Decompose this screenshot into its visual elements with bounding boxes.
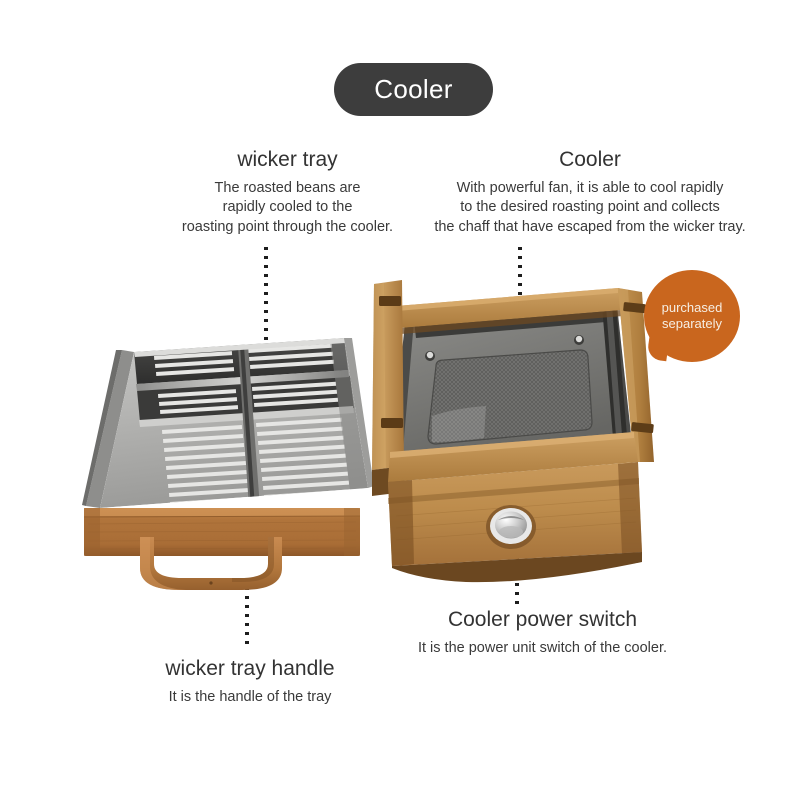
cooler-front-left-corner-block — [388, 480, 414, 566]
callout-cooler: Cooler With powerful fan, it is able to … — [410, 148, 770, 237]
cooler-front-right-corner-block — [618, 462, 642, 554]
wicker-tray-deck — [100, 338, 368, 508]
wicker-tray-panel-left-end — [84, 508, 100, 556]
callout-cooler-line-3: the chaff that have escaped from the wic… — [410, 218, 770, 238]
callout-wicker-tray-handle: wicker tray handle It is the handle of t… — [105, 657, 395, 707]
purchased-separately-bubble: purchased separately — [644, 270, 744, 366]
callout-cooler-power-switch: Cooler power switch It is the power unit… — [375, 608, 710, 658]
wicker-tray-handle-screw — [209, 581, 212, 584]
callout-cooler-power-switch-body: It is the power unit switch of the coole… — [375, 639, 710, 659]
product-image-cooler — [366, 266, 656, 586]
cooler-left-post-notch-top — [379, 296, 401, 306]
callout-wicker-tray-handle-line-1: It is the handle of the tray — [105, 688, 395, 708]
callout-wicker-tray-body: The roasted beans are rapidly cooled to … — [150, 179, 425, 238]
callout-wicker-tray-handle-heading: wicker tray handle — [105, 657, 395, 682]
cooler-illustration — [366, 266, 656, 586]
wicker-tray-wood-front-bevel — [84, 508, 360, 516]
callout-wicker-tray-heading: wicker tray — [150, 148, 425, 173]
callout-cooler-line-1: With powerful fan, it is able to cool ra… — [410, 179, 770, 199]
infographic-canvas: Cooler wicker tray The roasted beans are… — [0, 0, 800, 800]
purchased-separately-bubble-circle — [644, 270, 740, 362]
page-title-badge: Cooler — [334, 63, 493, 116]
wicker-tray-panel-right-end — [344, 508, 360, 556]
callout-wicker-tray-handle-body: It is the handle of the tray — [105, 688, 395, 708]
callout-wicker-tray-line-1: The roasted beans are — [150, 179, 425, 199]
page-title-label: Cooler — [374, 74, 452, 105]
callout-cooler-power-switch-line-1: It is the power unit switch of the coole… — [375, 639, 710, 659]
cooler-power-switch[interactable] — [486, 505, 536, 549]
callout-wicker-tray: wicker tray The roasted beans are rapidl… — [150, 148, 425, 237]
callout-cooler-body: With powerful fan, it is able to cool ra… — [410, 179, 770, 238]
product-image-wicker-tray — [82, 332, 382, 594]
cooler-power-switch-lower-face — [499, 526, 523, 538]
callout-cooler-power-switch-heading: Cooler power switch — [375, 608, 710, 633]
callout-cooler-line-2: to the desired roasting point and collec… — [410, 198, 770, 218]
callout-wicker-tray-line-3: roasting point through the cooler. — [150, 218, 425, 238]
cooler-left-post-notch-bottom — [381, 418, 403, 428]
wicker-tray-illustration — [82, 332, 382, 594]
callout-cooler-heading: Cooler — [410, 148, 770, 173]
callout-wicker-tray-line-2: rapidly cooled to the — [150, 198, 425, 218]
